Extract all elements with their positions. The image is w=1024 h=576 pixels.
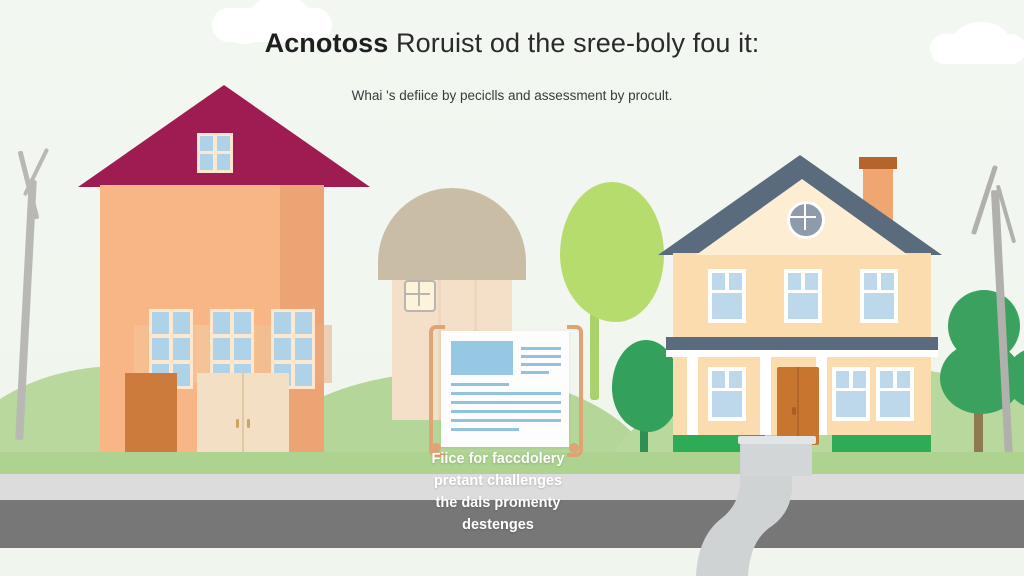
right-house-window-upper-2 xyxy=(784,269,822,323)
document-clip-right xyxy=(567,325,583,457)
porch-step-block xyxy=(742,440,812,476)
page-title-rest: Roruist od the sree-boly fou it: xyxy=(388,28,759,58)
right-house-column-left xyxy=(687,350,698,435)
page-title-bold: Acnotoss xyxy=(265,28,389,58)
caption-line-2: pretant challenges xyxy=(392,470,604,492)
right-house-window-upper-3 xyxy=(860,269,898,323)
document-image-block xyxy=(451,341,513,375)
right-house-window-lower-2 xyxy=(832,367,870,421)
right-house-window-upper-1 xyxy=(708,269,746,323)
left-house-garage-handle-l xyxy=(236,419,239,428)
right-house-door-split xyxy=(797,367,799,445)
tree-bare-left xyxy=(2,140,72,440)
center-silo-window xyxy=(404,280,436,312)
right-house-porch-band-under xyxy=(666,350,938,357)
left-house xyxy=(78,85,358,460)
scene-caption: Fiice for faccdolery pretant challenges … xyxy=(392,448,604,536)
right-house-window-lower-1 xyxy=(708,367,746,421)
tree-bare-right xyxy=(960,150,1024,450)
right-house-window-lower-3 xyxy=(876,367,914,421)
right-house xyxy=(660,145,960,465)
right-house-door-knob xyxy=(792,407,796,415)
document-paper xyxy=(441,331,569,447)
porch-step-top xyxy=(738,436,816,444)
caption-line-1: Fiice for faccdolery xyxy=(392,448,604,470)
document-illustration xyxy=(425,325,585,455)
left-house-door[interactable] xyxy=(125,373,177,460)
right-house-round-window xyxy=(787,201,825,239)
left-house-garage-split xyxy=(242,373,244,460)
left-house-garage-handle-r xyxy=(247,419,250,428)
slide-canvas: Acnotoss Roruist od the sree-boly fou it… xyxy=(0,0,1024,576)
page-title: Acnotoss Roruist od the sree-boly fou it… xyxy=(0,26,1024,60)
right-house-porch-band xyxy=(666,337,938,350)
caption-line-4: destenges xyxy=(392,514,604,536)
right-house-column-mid-left xyxy=(760,350,771,435)
center-silo-dome xyxy=(378,188,526,280)
caption-line-3: the dals promenty xyxy=(392,492,604,514)
